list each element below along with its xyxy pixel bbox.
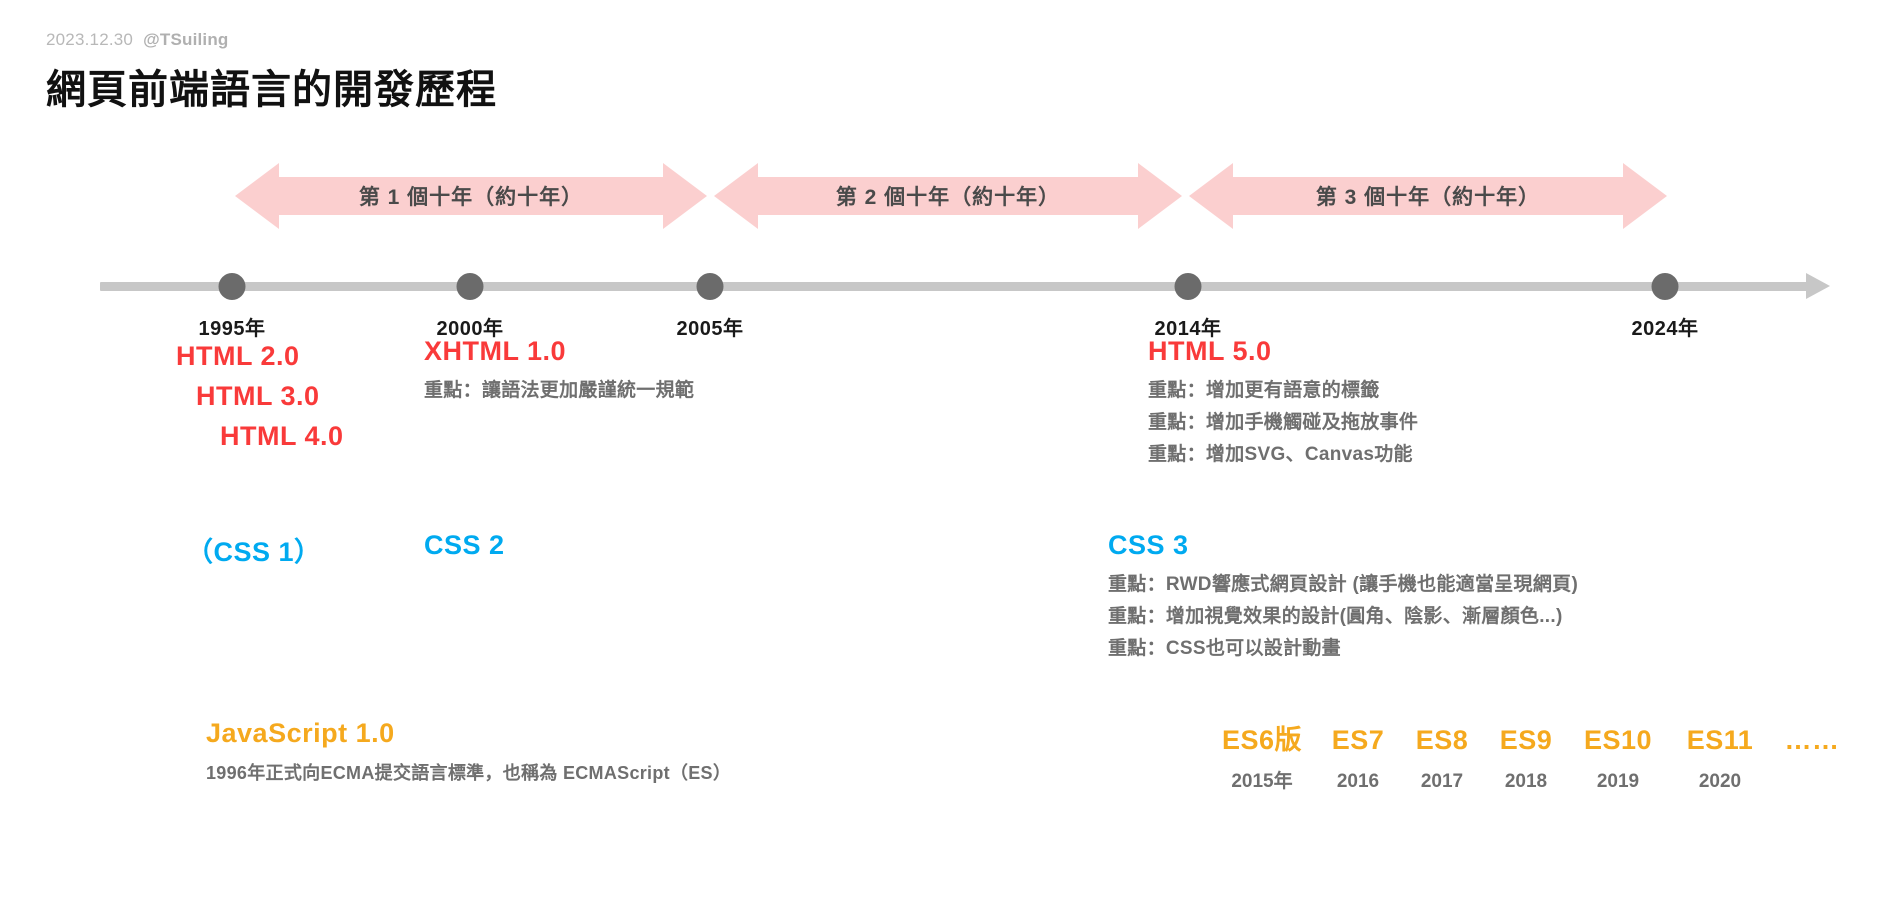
- html5-notes: 重點：增加更有語意的標籤 重點：增加手機觸碰及拖放事件 重點：增加SVG、Can…: [1148, 375, 1418, 471]
- note-line: 1996年正式向ECMA提交語言標準，也稱為 ECMAScript（ES）: [206, 757, 731, 789]
- note-line: 重點：增加SVG、Canvas功能: [1148, 439, 1418, 471]
- note-line: 重點：增加手機觸碰及拖放事件: [1148, 407, 1418, 439]
- note-line: 重點：讓語法更加嚴謹統一規範: [424, 375, 694, 407]
- html-version-item: HTML 4.0: [176, 416, 344, 456]
- css1-title: （CSS 1）: [186, 530, 322, 569]
- xhtml-notes: 重點：讓語法更加嚴謹統一規範: [424, 375, 694, 407]
- decade-band: 第 1 個十年（約十年）第 2 個十年（約十年）第 3 個十年（約十年）: [0, 163, 1900, 229]
- html5-block: HTML 5.0 重點：增加更有語意的標籤 重點：增加手機觸碰及拖放事件 重點：…: [1148, 336, 1418, 471]
- html-version-item: HTML 3.0: [176, 376, 344, 416]
- publish-date: 2023.12.30: [46, 30, 133, 49]
- note-line: 重點：RWD響應式網頁設計 (讓手機也能適當呈現網頁): [1108, 569, 1578, 601]
- es-version-label: ES9: [1484, 725, 1568, 756]
- es-version-year: 2018: [1484, 771, 1568, 793]
- timeline-node-dot: [697, 273, 724, 300]
- note-line: 重點：CSS也可以設計動畫: [1108, 633, 1578, 665]
- axis-arrowhead-icon: [1806, 273, 1830, 299]
- meta-line: 2023.12.30@TSuiling: [46, 30, 497, 50]
- es-version-list: ES6版ES7ES8ES9ES10ES11……: [1208, 718, 1852, 757]
- timeline-node-dot: [219, 273, 246, 300]
- decade-label: 第 3 個十年（約十年）: [1316, 181, 1540, 211]
- timeline-node-dot: [1175, 273, 1202, 300]
- decade-label: 第 1 個十年（約十年）: [359, 181, 583, 211]
- es-version-label: ES11: [1668, 725, 1772, 756]
- xhtml-block: XHTML 1.0 重點：讓語法更加嚴謹統一規範: [424, 336, 694, 407]
- decade-arrow: 第 2 個十年（約十年）: [714, 163, 1182, 229]
- es-version-label: ES7: [1316, 725, 1400, 756]
- css3-title: CSS 3: [1108, 530, 1578, 561]
- es-version-year: 2017: [1400, 771, 1484, 793]
- html-early-versions-group: HTML 2.0 HTML 3.0 HTML 4.0: [176, 336, 344, 456]
- css3-notes: 重點：RWD響應式網頁設計 (讓手機也能適當呈現網頁) 重點：增加視覺效果的設計…: [1108, 569, 1578, 665]
- html-version-item: HTML 2.0: [176, 336, 344, 376]
- css3-block: CSS 3 重點：RWD響應式網頁設計 (讓手機也能適當呈現網頁) 重點：增加視…: [1108, 530, 1578, 665]
- decade-arrow: 第 3 個十年（約十年）: [1189, 163, 1667, 229]
- decade-label: 第 2 個十年（約十年）: [836, 181, 1060, 211]
- css2-block: CSS 2: [424, 530, 505, 561]
- javascript-notes: 1996年正式向ECMA提交語言標準，也稱為 ECMAScript（ES）: [206, 757, 731, 789]
- timeline-node-dot: [1652, 273, 1679, 300]
- author-handle: @TSuiling: [143, 30, 228, 49]
- javascript-block: JavaScript 1.0 1996年正式向ECMA提交語言標準，也稱為 EC…: [206, 718, 731, 789]
- timeline-axis: 1995年2000年2005年2014年2024年: [0, 230, 1900, 290]
- html5-title: HTML 5.0: [1148, 336, 1418, 367]
- page-header: 2023.12.30@TSuiling 網頁前端語言的開發歷程: [46, 30, 497, 115]
- es-version-label: ……: [1772, 725, 1852, 756]
- css2-title: CSS 2: [424, 530, 505, 561]
- es-version-label: ES6版: [1208, 718, 1316, 757]
- note-line: 重點：增加更有語意的標籤: [1148, 375, 1418, 407]
- timeline-node-year: 2024年: [1632, 312, 1699, 341]
- es-version-year: 2019: [1568, 771, 1668, 793]
- es-version-label: ES10: [1568, 725, 1668, 756]
- es-version-label: ES8: [1400, 725, 1484, 756]
- decade-arrow: 第 1 個十年（約十年）: [235, 163, 707, 229]
- timeline-node-dot: [457, 273, 484, 300]
- page-title: 網頁前端語言的開發歷程: [46, 57, 497, 115]
- es-version-year: 2015年: [1208, 766, 1316, 793]
- javascript-title: JavaScript 1.0: [206, 718, 731, 749]
- es-year-list: 2015年20162017201820192020: [1208, 766, 1852, 793]
- css1-block: （CSS 1）: [186, 530, 322, 569]
- xhtml-title: XHTML 1.0: [424, 336, 694, 367]
- es-version-year: 2016: [1316, 771, 1400, 793]
- axis-line: [100, 282, 1810, 291]
- note-line: 重點：增加視覺效果的設計(圓角、陰影、漸層顏色...): [1108, 601, 1578, 633]
- es-version-year: 2020: [1668, 771, 1772, 793]
